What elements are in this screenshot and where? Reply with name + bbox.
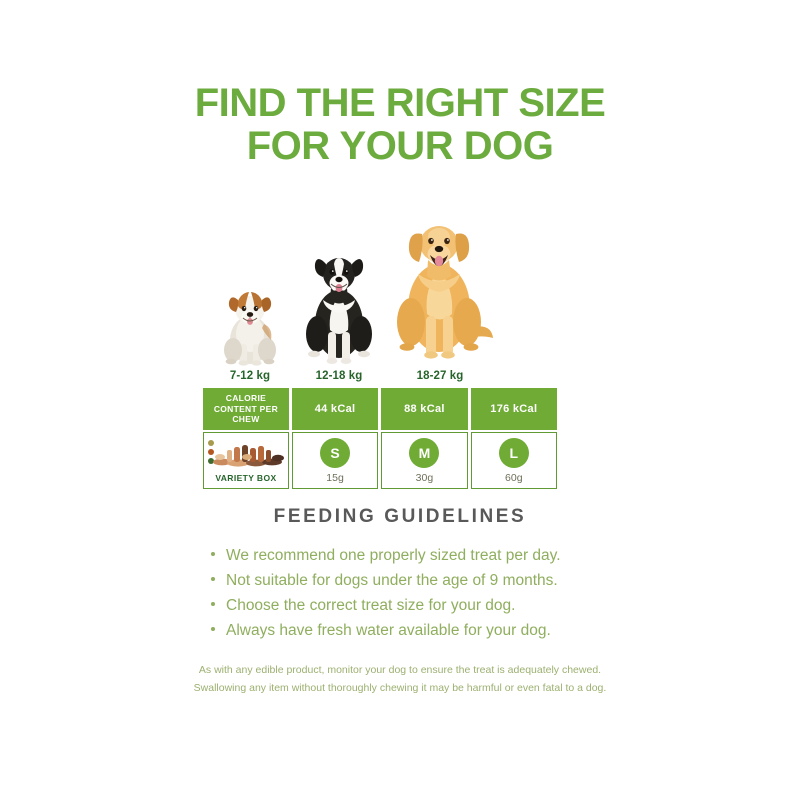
infographic-page: FIND THE RIGHT SIZE FOR YOUR DOG [0, 0, 800, 800]
list-item: We recommend one properly sized treat pe… [0, 543, 800, 568]
list-item-inner: Not suitable for dogs under the age of 9… [211, 568, 589, 593]
header-cell-kcal-small: 44 kCal [292, 388, 378, 430]
page-title: FIND THE RIGHT SIZE FOR YOUR DOG [0, 82, 800, 168]
page-title-line-1: FIND THE RIGHT SIZE [0, 82, 800, 125]
list-item-label: Choose the correct treat size for your d… [226, 597, 515, 614]
header-calorie-line-2: CONTENT PER [214, 404, 278, 415]
table-body-row: VARIETY BOX S 15g M 30g L 60g [203, 432, 557, 489]
jack-russell-terrier-icon [207, 274, 293, 366]
list-item: Choose the correct treat size for your d… [0, 593, 800, 618]
size-badge-medium: M [409, 438, 439, 468]
header-cell-kcal-medium: 88 kCal [381, 388, 467, 430]
page-title-line-2: FOR YOUR DOG [0, 125, 800, 168]
body-cell-variety-box: VARIETY BOX [203, 432, 289, 489]
treat-assortment-icon [212, 441, 286, 467]
list-item: Always have fresh water available for yo… [0, 618, 800, 643]
disclaimer-line-2: Swallowing any item without thoroughly c… [0, 679, 800, 697]
dog-illustration-small [207, 274, 293, 366]
header-cell-kcal-large: 176 kCal [471, 388, 557, 430]
variety-box-content: VARIETY BOX [204, 433, 288, 488]
header-calorie-line-3: CHEW [214, 414, 278, 425]
bullet-dot-icon [211, 577, 215, 581]
dog-illustration-medium [296, 236, 382, 366]
list-item-inner: We recommend one properly sized treat pe… [211, 543, 589, 568]
list-item-label: Not suitable for dogs under the age of 9… [226, 572, 558, 589]
size-badge-small: S [320, 438, 350, 468]
body-cell-size-large: L 60g [471, 432, 557, 489]
list-item-inner: Always have fresh water available for yo… [211, 618, 589, 643]
border-collie-icon [296, 236, 382, 366]
weight-label-medium: 12-18 kg [296, 370, 382, 382]
body-cell-size-small: S 15g [292, 432, 378, 489]
grams-large: 60g [505, 472, 523, 484]
golden-retriever-icon [385, 204, 495, 366]
variety-box-label: VARIETY BOX [204, 473, 288, 483]
table-header-row: CALORIE CONTENT PER CHEW 44 kCal 88 kCal… [203, 388, 557, 430]
header-calorie-line-1: CALORIE [214, 393, 278, 404]
grams-small: 15g [326, 472, 344, 484]
dog-illustration-large [385, 204, 495, 366]
bullet-dot-icon [211, 552, 215, 556]
disclaimer-line-1: As with any edible product, monitor your… [0, 661, 800, 679]
grams-medium: 30g [416, 472, 434, 484]
feeding-guidelines-list: We recommend one properly sized treat pe… [0, 543, 800, 643]
weight-label-small: 7-12 kg [207, 370, 293, 382]
dog-size-illustrations [203, 196, 557, 366]
list-item-label: Always have fresh water available for yo… [226, 622, 551, 639]
list-item-inner: Choose the correct treat size for your d… [211, 593, 589, 618]
body-cell-size-medium: M 30g [381, 432, 467, 489]
list-item: Not suitable for dogs under the age of 9… [0, 568, 800, 593]
header-cell-calorie-content: CALORIE CONTENT PER CHEW [203, 388, 289, 430]
safety-disclaimer: As with any edible product, monitor your… [0, 661, 800, 698]
dog-weight-labels: 7-12 kg 12-18 kg 18-27 kg [203, 370, 557, 386]
size-badge-large: L [499, 438, 529, 468]
list-item-label: We recommend one properly sized treat pe… [226, 547, 561, 564]
bullet-dot-icon [211, 627, 215, 631]
weight-label-large: 18-27 kg [385, 370, 495, 382]
feeding-guidelines-heading: FEEDING GUIDELINES [0, 506, 800, 528]
bullet-dot-icon [211, 602, 215, 606]
size-chart-table: CALORIE CONTENT PER CHEW 44 kCal 88 kCal… [203, 388, 557, 489]
